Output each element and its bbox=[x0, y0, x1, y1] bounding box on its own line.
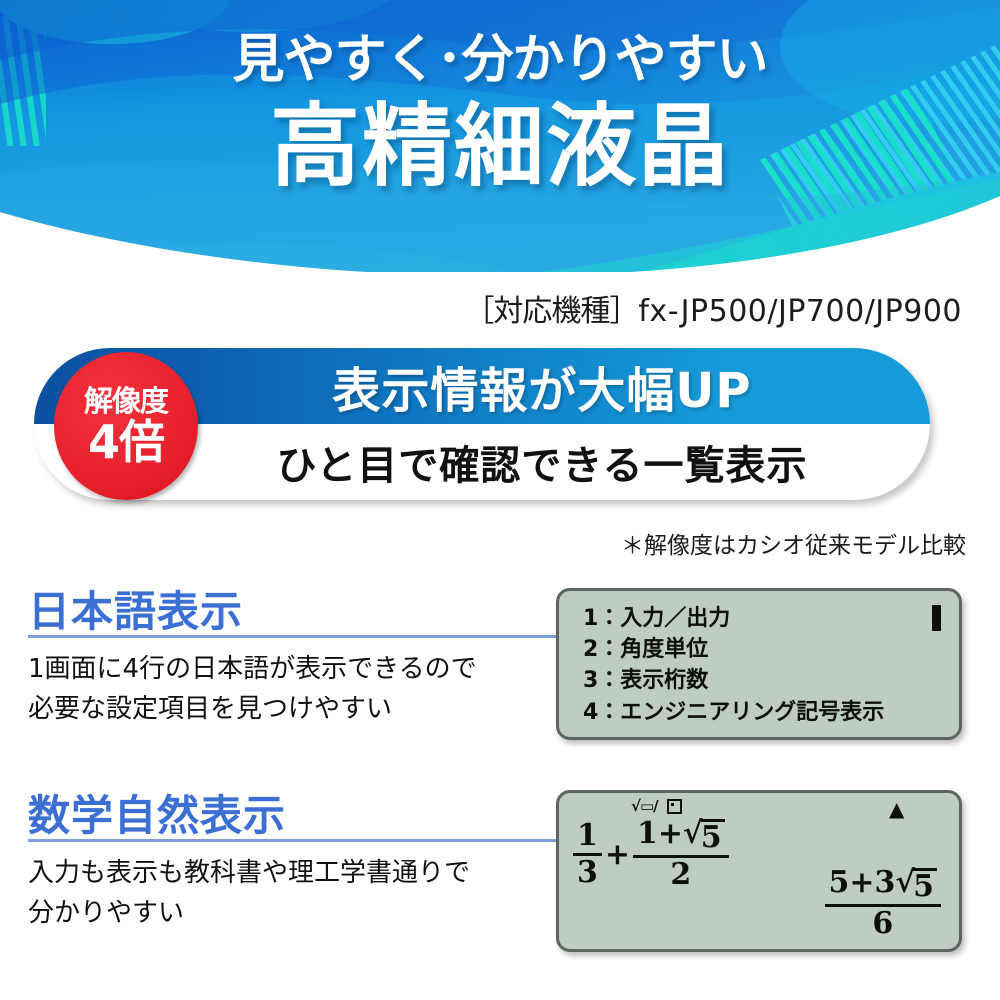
fraction-denominator: 2 bbox=[666, 858, 695, 890]
page-root: 見やすく･分かりやすい 高精細液晶 ［対応機種］fx-JP500/JP700/J… bbox=[0, 0, 1000, 1000]
fraction-one-third: 1 3 bbox=[573, 821, 602, 888]
result-fraction: 5+3 √5 6 bbox=[825, 868, 941, 939]
feature-1-body: 1画面に4行の日本語が表示できるので 必要な設定項目を見つけやすい bbox=[28, 650, 548, 729]
fraction-numerator: 5+3 √5 bbox=[825, 868, 941, 904]
feature-1-body-line-2: 必要な設定項目を見つけやすい bbox=[28, 690, 548, 730]
feature-1-heading: 日本語表示 bbox=[28, 578, 243, 639]
sqrt-group: √5 bbox=[895, 868, 937, 902]
feature-2-heading: 数学自然表示 bbox=[28, 782, 286, 843]
lcd-scrollbar-thumb-icon bbox=[932, 605, 941, 631]
supported-models-label: ［対応機種］ bbox=[464, 294, 638, 329]
lcd-scroll-up-icon: ▲ bbox=[889, 799, 904, 819]
numerator-text: 5+3 bbox=[829, 868, 896, 898]
feature-2-body-line-1: 入力も表示も教科書や理工学書通りで bbox=[28, 854, 548, 894]
radicand: 5 bbox=[701, 819, 725, 853]
fraction-golden-ratio: 1+ √5 2 bbox=[633, 819, 729, 890]
resolution-badge-label: 解像度 bbox=[84, 386, 168, 416]
lcd-menu-row: 3：表示桁数 bbox=[583, 665, 884, 696]
header-banner: 見やすく･分かりやすい 高精細液晶 bbox=[0, 0, 1000, 272]
sqrt-group: √5 bbox=[683, 819, 725, 853]
fraction-numerator: 1+ √5 bbox=[633, 819, 729, 855]
supported-models-value: fx-JP500/JP700/JP900 bbox=[638, 294, 962, 329]
radicand: 5 bbox=[913, 868, 937, 902]
lcd-menu-row: 4：エンジニアリング記号表示 bbox=[583, 697, 884, 728]
lcd-math-result: 5+3 √5 6 bbox=[825, 868, 941, 939]
fraction-denominator: 6 bbox=[868, 907, 897, 939]
lcd-menu-list: 1：入力／出力 2：角度単位 3：表示桁数 4：エンジニアリング記号表示 bbox=[583, 603, 884, 728]
sqrt-box-mode-icon: √▭∕ bbox=[631, 799, 658, 814]
plus-operator: + bbox=[605, 837, 630, 872]
feature-2-body: 入力も表示も教科書や理工学書通りで 分かりやすい bbox=[28, 854, 548, 933]
feature-1-body-line-1: 1画面に4行の日本語が表示できるので bbox=[28, 650, 548, 690]
fraction-numerator: 1 bbox=[573, 821, 602, 853]
highlight-banner-wrap: 表示情報が大幅UP ひと目で確認できる一覧表示 解像度 4倍 bbox=[34, 348, 934, 508]
lcd-screen-math: √▭∕ ▲ 1 3 + 1+ √5 2 bbox=[556, 790, 962, 952]
degree-box-icon bbox=[667, 799, 682, 814]
resolution-badge-value: 4倍 bbox=[88, 418, 164, 466]
resolution-badge: 解像度 4倍 bbox=[54, 352, 198, 500]
fraction-denominator: 3 bbox=[573, 856, 602, 888]
resolution-footnote: ＊解像度はカシオ従来モデル比較 bbox=[621, 526, 966, 560]
lcd-menu-row: 1：入力／出力 bbox=[583, 603, 884, 634]
lcd-status-icons: √▭∕ bbox=[631, 799, 682, 814]
lcd-menu-row: 2：角度単位 bbox=[583, 634, 884, 665]
header-background-art bbox=[0, 0, 1000, 272]
lcd-math-expression: 1 3 + 1+ √5 2 bbox=[573, 819, 729, 890]
feature-2-body-line-2: 分かりやすい bbox=[28, 894, 548, 934]
supported-models-line: ［対応機種］fx-JP500/JP700/JP900 bbox=[464, 286, 962, 330]
lcd-screen-menu: 1：入力／出力 2：角度単位 3：表示桁数 4：エンジニアリング記号表示 bbox=[556, 588, 962, 740]
numerator-text: 1+ bbox=[637, 819, 683, 849]
